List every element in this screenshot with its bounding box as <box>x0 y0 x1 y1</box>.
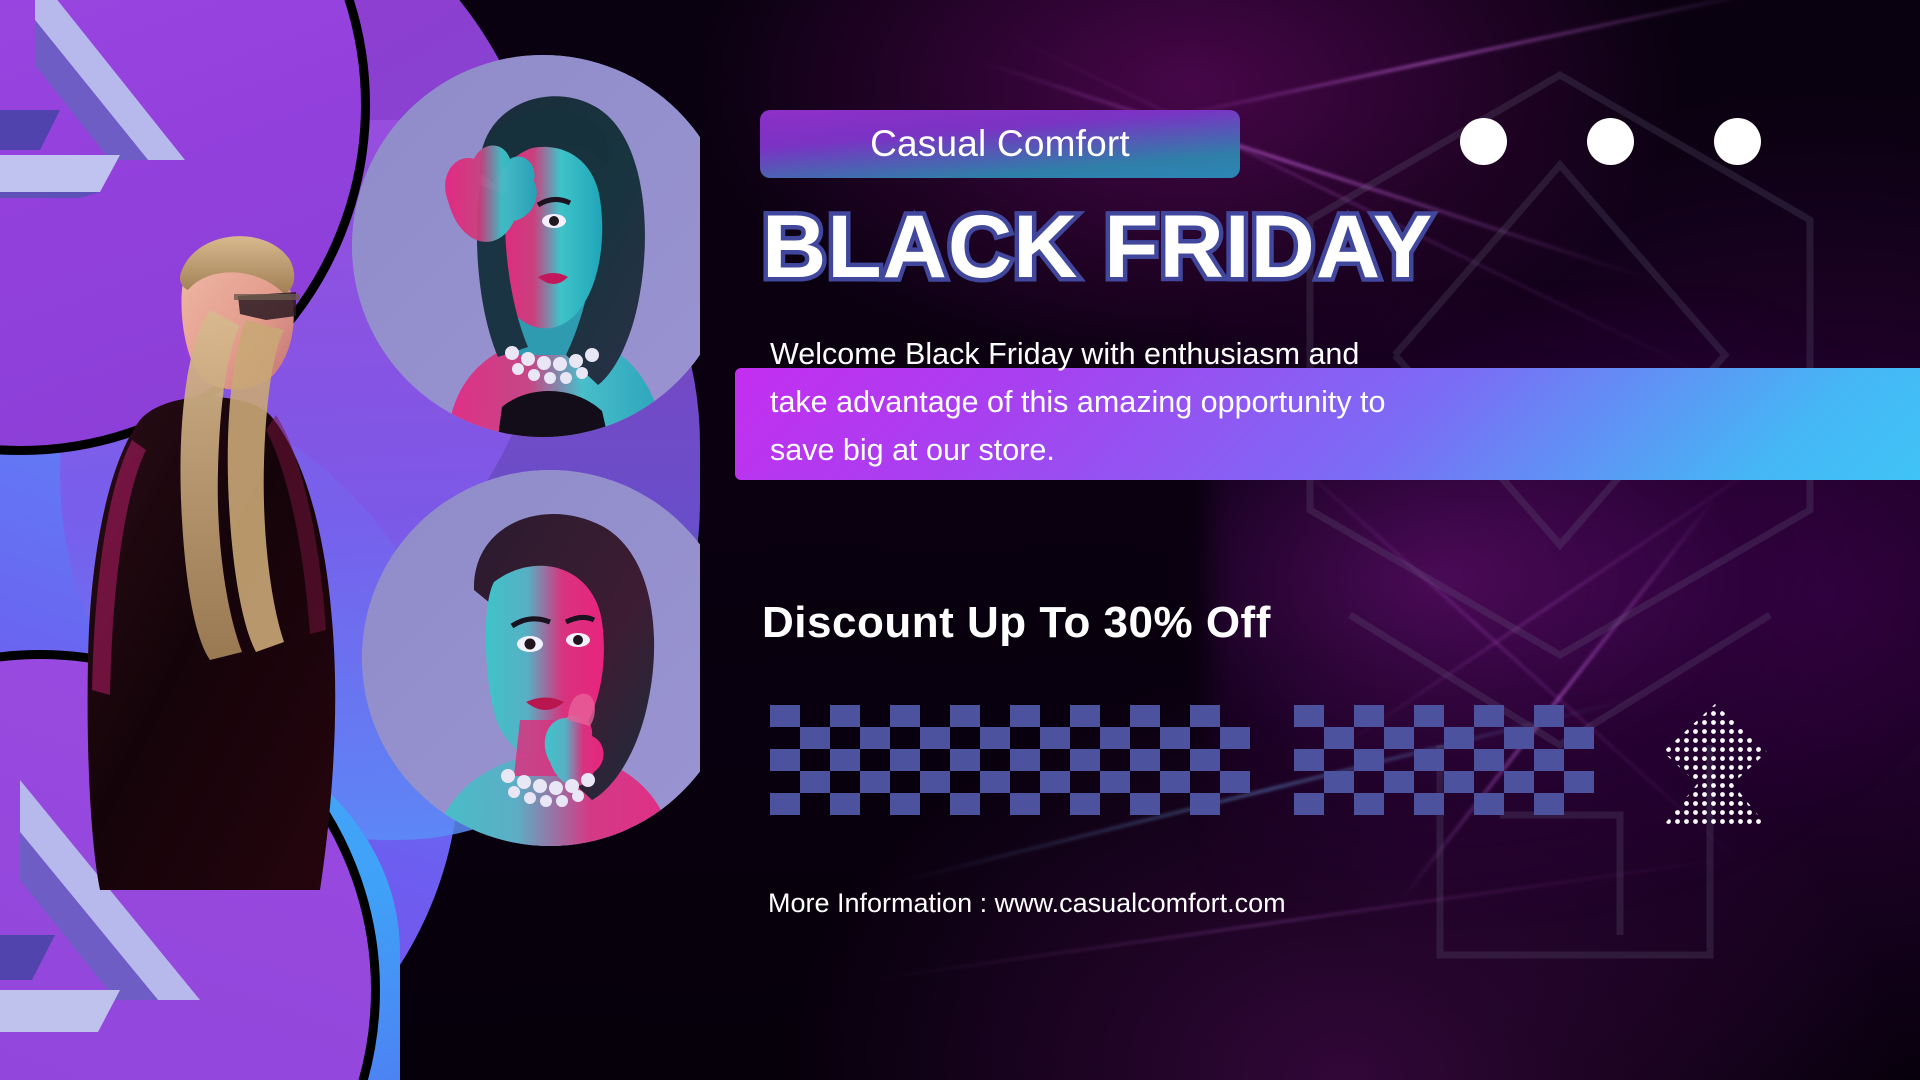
checker-pattern-group <box>770 705 1594 815</box>
promo-message-text: Welcome Black Friday with enthusiasm and… <box>770 330 1410 474</box>
footer-info-text[interactable]: More Information : www.casualcomfort.com <box>768 888 1286 919</box>
model-hoodie-side-photo <box>70 190 400 890</box>
checker-pattern-icon <box>1294 705 1594 815</box>
promo-content: Casual Comfort BLACK FRIDAY Welcome Blac… <box>760 0 1920 1080</box>
decorative-dots <box>1460 118 1761 165</box>
portrait-artwork <box>362 470 700 846</box>
portrait-artwork <box>352 55 700 437</box>
black-friday-promo-banner: Casual Comfort BLACK FRIDAY Welcome Blac… <box>0 0 1920 1080</box>
discount-label: Discount Up To 30% Off <box>762 598 1271 648</box>
left-image-collage <box>0 0 700 1080</box>
dot-icon <box>1587 118 1634 165</box>
penrose-triangle-icon <box>0 0 200 200</box>
checker-pattern-icon <box>770 705 1250 815</box>
brand-badge-label: Casual Comfort <box>870 123 1130 165</box>
model-portrait-top-photo <box>352 55 700 437</box>
dot-icon <box>1714 118 1761 165</box>
brand-badge[interactable]: Casual Comfort <box>760 110 1240 178</box>
dot-icon <box>1460 118 1507 165</box>
model-portrait-bottom-photo <box>362 470 700 846</box>
dotted-diamond-ornament-icon <box>1655 700 1775 830</box>
page-title: BLACK FRIDAY <box>762 195 1920 298</box>
